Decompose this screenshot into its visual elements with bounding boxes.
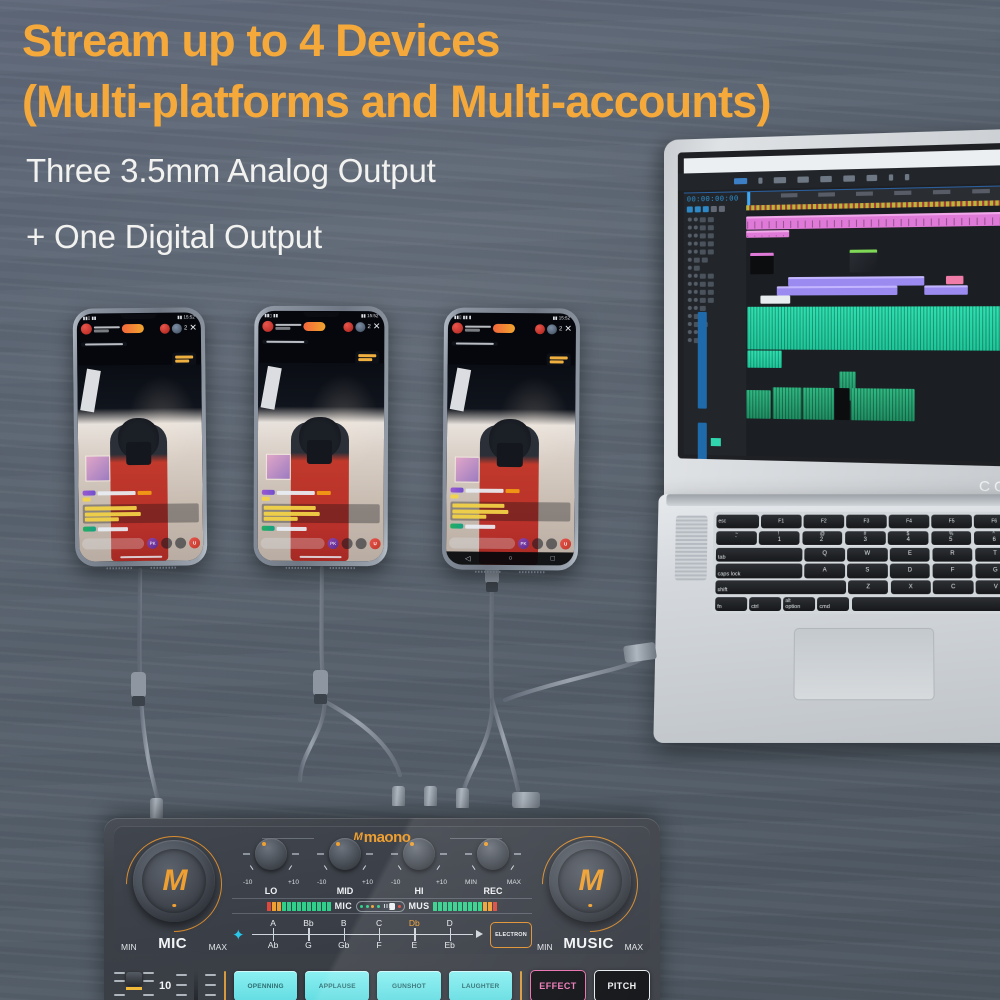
gift-button[interactable]: U bbox=[560, 538, 571, 549]
pitch-label-bottom: Ab bbox=[268, 940, 278, 950]
key-s[interactable]: S bbox=[847, 564, 887, 578]
viewer-count: 2 bbox=[559, 326, 562, 332]
music-meter-label: MUS bbox=[409, 901, 430, 911]
mid-max-label: +10 bbox=[362, 879, 373, 886]
mic-vu-meter bbox=[267, 902, 330, 911]
bluetooth-icon[interactable]: ✦ bbox=[232, 928, 245, 943]
livestream-video[interactable]: PK U bbox=[77, 364, 203, 561]
timeline-clip[interactable] bbox=[760, 295, 790, 303]
maono-mark: M bbox=[579, 866, 602, 896]
lo-min-label: -10 bbox=[243, 879, 252, 886]
headline-line-1: Stream up to 4 Devices bbox=[22, 10, 1000, 71]
wall-frame bbox=[454, 457, 480, 483]
lo-knob-name: LO bbox=[242, 886, 300, 896]
mixer-lower-controls[interactable]: 10 OPENNING APPLAUSE GUNSHOT LAUGHTER EF… bbox=[114, 964, 650, 1000]
jack-connector-4 bbox=[456, 788, 469, 808]
viewer-avatar[interactable] bbox=[160, 323, 170, 333]
rec-max-label: MAX bbox=[507, 879, 521, 886]
key-d[interactable]: D bbox=[890, 564, 930, 578]
key-e[interactable]: E bbox=[890, 547, 930, 561]
gift-button[interactable]: U bbox=[370, 538, 381, 549]
rec-min-label: MIN bbox=[465, 879, 477, 886]
track-selection-bar[interactable] bbox=[698, 312, 707, 409]
track-row bbox=[684, 296, 746, 304]
keyboard-row-function: esc F1 F2 F3 F4 F5 F6 F7 bbox=[716, 515, 1000, 529]
mid-min-label: -10 bbox=[317, 879, 326, 886]
host-avatar[interactable] bbox=[452, 322, 463, 333]
gift-button[interactable]: U bbox=[189, 537, 200, 548]
maono-mark: M bbox=[354, 832, 363, 843]
follow-button[interactable] bbox=[493, 324, 515, 333]
chat-overlay[interactable] bbox=[450, 487, 570, 531]
pitch-label-top: C bbox=[376, 918, 382, 928]
lo-knob[interactable] bbox=[255, 838, 287, 870]
pitch-label-top: A bbox=[270, 918, 276, 928]
music-max-label: MAX bbox=[625, 942, 643, 952]
hi-max-label: +10 bbox=[436, 879, 447, 886]
fader-left[interactable] bbox=[114, 968, 154, 1000]
more-button[interactable] bbox=[546, 538, 557, 549]
lo-max-label: +10 bbox=[288, 879, 299, 886]
battery-icon bbox=[382, 903, 395, 910]
panel-divider bbox=[520, 971, 522, 1000]
key-caps-lock[interactable]: caps lock bbox=[716, 564, 803, 578]
fader-right[interactable] bbox=[176, 968, 216, 1000]
carrier-label: ▮▮▯ ▮▮ bbox=[264, 312, 278, 318]
rec-knob-name: REC bbox=[464, 886, 522, 896]
share-button[interactable] bbox=[532, 538, 543, 549]
knob-position-indicator bbox=[588, 904, 592, 908]
viewer-avatar[interactable] bbox=[547, 324, 557, 334]
chat-message bbox=[450, 501, 570, 521]
hi-min-label: -10 bbox=[391, 879, 400, 886]
clock-label: ▮▮ 15:52 bbox=[177, 314, 195, 320]
knob-position-indicator bbox=[172, 904, 176, 908]
mic-min-label: MIN bbox=[121, 942, 137, 952]
key-w[interactable]: W bbox=[847, 547, 887, 561]
keyboard-row-home: caps lock A S D F G H bbox=[716, 564, 1000, 578]
mic-max-label: MAX bbox=[209, 942, 227, 952]
pk-button[interactable]: PK bbox=[328, 538, 339, 549]
chat-overlay[interactable] bbox=[83, 489, 199, 533]
key-q[interactable]: Q bbox=[805, 547, 845, 561]
close-icon[interactable]: ✕ bbox=[189, 323, 197, 332]
announcement-pill[interactable] bbox=[81, 342, 127, 347]
clock-label: ▮▮ 15:52 bbox=[361, 313, 378, 319]
more-button[interactable] bbox=[356, 538, 367, 549]
music-volume-knob[interactable]: M bbox=[549, 840, 631, 922]
pitch-label-bottom: Eb bbox=[444, 940, 454, 950]
chat-message bbox=[450, 523, 570, 529]
timeline-clip[interactable] bbox=[777, 286, 898, 296]
viewer-avatar[interactable] bbox=[355, 322, 365, 332]
host-avatar[interactable] bbox=[81, 323, 92, 334]
rec-knob-group[interactable]: MINMAX REC bbox=[464, 836, 522, 894]
pk-button[interactable]: PK bbox=[518, 538, 529, 549]
key-space[interactable] bbox=[852, 597, 1000, 611]
pad-gunshot[interactable]: GUNSHOT bbox=[377, 971, 441, 1000]
pitch-label-top-active: Db bbox=[409, 918, 420, 928]
recents-icon[interactable]: □ bbox=[551, 555, 555, 562]
announcement-pill[interactable] bbox=[452, 341, 498, 346]
key-g[interactable]: G bbox=[975, 564, 1000, 578]
mixer-top-panel[interactable]: M maono M MIN MIC MAX M bbox=[114, 826, 650, 954]
chat-message bbox=[262, 526, 380, 531]
record-dot bbox=[398, 905, 401, 908]
keyboard-row-qwerty: tab Q W E R T Y bbox=[716, 547, 1000, 561]
mic-volume-knob-group[interactable]: M MIN MIC MAX bbox=[120, 834, 228, 952]
share-button[interactable] bbox=[161, 538, 172, 549]
host-info bbox=[465, 325, 491, 331]
camera-prop bbox=[126, 442, 151, 466]
key-f6[interactable]: F6 bbox=[974, 515, 1000, 529]
key-f4[interactable]: F4 bbox=[889, 515, 929, 529]
close-icon[interactable]: ✕ bbox=[373, 322, 381, 331]
phone-notch bbox=[303, 312, 339, 317]
pitch-label-top: B bbox=[341, 918, 347, 928]
announcement-pill[interactable] bbox=[262, 339, 308, 344]
key-6[interactable]: ^6 bbox=[974, 531, 1000, 545]
key-shift[interactable]: shift bbox=[715, 580, 845, 594]
track-selection-bar[interactable] bbox=[698, 423, 707, 469]
panel-divider bbox=[224, 971, 226, 1000]
pad-laughter[interactable]: LAUGHTER bbox=[449, 971, 513, 1000]
viewer-count: 2 bbox=[367, 324, 370, 330]
pad-applause[interactable]: APPLAUSE bbox=[305, 971, 369, 1000]
follow-button[interactable] bbox=[303, 322, 325, 331]
key-fn[interactable]: fn bbox=[715, 597, 747, 611]
key-cmd[interactable]: cmd bbox=[817, 597, 849, 611]
host-avatar[interactable] bbox=[262, 321, 273, 332]
pitch-scale[interactable]: A Bb B C Db D Ab G Gb F E Eb bbox=[250, 919, 485, 951]
key-3[interactable]: #3 bbox=[845, 531, 886, 545]
camera-prop bbox=[497, 443, 523, 467]
video-highlight bbox=[261, 366, 282, 410]
comment-input[interactable] bbox=[261, 538, 325, 549]
phone-notch bbox=[121, 314, 157, 319]
pk-button[interactable]: PK bbox=[147, 538, 158, 549]
key-2[interactable]: @2 bbox=[802, 531, 843, 545]
laptop-trackpad[interactable] bbox=[793, 628, 934, 700]
key-t[interactable]: T bbox=[975, 547, 1000, 561]
share-button[interactable] bbox=[342, 538, 353, 549]
phone-2-screen[interactable]: ▮▮▯ ▮▮ ▮▮ 15:52 2 ✕ bbox=[258, 311, 385, 561]
pitch-button[interactable]: PITCH bbox=[594, 970, 650, 1000]
usb-connector bbox=[512, 792, 540, 808]
chat-message bbox=[262, 504, 380, 523]
close-icon[interactable]: ✕ bbox=[564, 324, 572, 333]
phone-1[interactable]: ▮▮▯ ▮▮ ▮▮ 15:52 2 ✕ bbox=[73, 307, 208, 566]
home-indicator[interactable] bbox=[120, 555, 162, 558]
track-row bbox=[684, 312, 746, 320]
keyboard-row-number: ~` !1 @2 #3 $4 %5 ^6 &7 bbox=[716, 531, 1000, 545]
effect-button[interactable]: EFFECT bbox=[530, 970, 586, 1000]
phone-1-screen[interactable]: ▮▮▯ ▮▮ ▮▮ 15:52 2 ✕ bbox=[77, 312, 204, 561]
clock-label: ▮▮ 15:52 bbox=[553, 315, 571, 321]
keyboard-row-modifier: fn ctrl altoption cmd bbox=[715, 597, 1000, 611]
video-highlight bbox=[80, 369, 101, 413]
livestream-toolbar[interactable]: PK U bbox=[261, 538, 381, 549]
livestream-video[interactable]: PK U bbox=[258, 363, 385, 561]
status-dot bbox=[377, 905, 380, 908]
key-v[interactable]: V bbox=[976, 580, 1000, 594]
chat-message bbox=[262, 490, 380, 495]
timeline-gap bbox=[835, 388, 850, 420]
key-a[interactable]: A bbox=[805, 564, 845, 578]
timeline-clip[interactable] bbox=[924, 285, 968, 295]
key-4[interactable]: $4 bbox=[888, 531, 929, 545]
livestream-video[interactable]: PK U ◁ ○ □ bbox=[446, 364, 576, 565]
wall-frame bbox=[265, 454, 290, 480]
speaker-grille-left bbox=[675, 516, 708, 581]
timeline-clip[interactable] bbox=[908, 276, 917, 285]
carrier-label: ▮▮▯ ▮▮ bbox=[83, 315, 97, 321]
mic-knob-labels: MIN MIC MAX bbox=[120, 935, 228, 952]
video-highlight bbox=[450, 368, 471, 412]
jack-connector-3 bbox=[424, 786, 437, 806]
home-indicator[interactable] bbox=[300, 555, 342, 558]
key-option[interactable]: altoption bbox=[783, 597, 815, 611]
follow-button[interactable] bbox=[122, 324, 144, 333]
headline-block: Stream up to 4 Devices (Multi-platforms … bbox=[22, 10, 1000, 256]
track-row bbox=[684, 320, 746, 328]
vu-meter-row: MIC MUS bbox=[232, 898, 532, 914]
livestream-header[interactable]: 2 ✕ bbox=[448, 321, 576, 335]
phone-3[interactable]: ▮▮▯ ▮▮ ▮ ▮▮ 15:52 2 ✕ bbox=[442, 307, 580, 570]
electron-button[interactable]: ELECTRON bbox=[490, 922, 532, 948]
track-row bbox=[684, 336, 746, 344]
timeline-clip[interactable] bbox=[747, 350, 782, 368]
maono-mark: M bbox=[163, 866, 186, 896]
pitch-label-bottom: E bbox=[412, 940, 418, 950]
key-c[interactable]: C bbox=[933, 580, 973, 594]
host-info bbox=[275, 323, 301, 329]
jack-connector-2 bbox=[392, 786, 405, 806]
key-z[interactable]: Z bbox=[848, 580, 888, 594]
comment-input[interactable] bbox=[82, 538, 144, 550]
music-vu-meter bbox=[433, 902, 496, 911]
timeline-clip[interactable] bbox=[803, 388, 834, 420]
headline-subtitle-2: + One Digital Output bbox=[26, 218, 1000, 256]
key-f3[interactable]: F3 bbox=[846, 515, 886, 529]
key-f5[interactable]: F5 bbox=[932, 515, 972, 529]
timeline-clip[interactable] bbox=[773, 387, 802, 419]
music-knob-name: MUSIC bbox=[563, 935, 613, 952]
key-esc[interactable]: esc bbox=[716, 515, 758, 529]
status-dot bbox=[371, 905, 374, 908]
timeline-clip[interactable] bbox=[788, 276, 924, 286]
key-f2[interactable]: F2 bbox=[804, 515, 844, 529]
pitch-label-bottom: Gb bbox=[338, 940, 349, 950]
pitch-scale-row[interactable]: ✦ A Bb B C Db D Ab G Gb F E Eb bbox=[232, 918, 532, 952]
pitch-label-bottom: G bbox=[305, 940, 312, 950]
comment-input[interactable] bbox=[449, 537, 515, 549]
key-f[interactable]: F bbox=[933, 564, 973, 578]
laptop-base: esc F1 F2 F3 F4 F5 F6 F7 ~` !1 @2 #3 $4 … bbox=[653, 494, 1000, 743]
mic-meter-label: MIC bbox=[335, 901, 352, 911]
pad-openning[interactable]: OPENNING bbox=[234, 971, 298, 1000]
lo-knob-group[interactable]: -10+10 LO bbox=[242, 836, 300, 894]
livestream-header[interactable]: 2 ✕ bbox=[77, 321, 201, 335]
track-row bbox=[684, 304, 746, 312]
timeline-clip[interactable] bbox=[747, 306, 1000, 351]
timeline-clip[interactable] bbox=[946, 276, 963, 285]
pitch-label-top: Bb bbox=[303, 918, 313, 928]
headline-line-2: (Multi-platforms and Multi-accounts) bbox=[22, 71, 1000, 132]
phone-2[interactable]: ▮▮▯ ▮▮ ▮▮ 15:52 2 ✕ bbox=[254, 306, 389, 566]
laptop-keyboard[interactable]: esc F1 F2 F3 F4 F5 F6 F7 ~` !1 @2 #3 $4 … bbox=[712, 512, 1000, 614]
track-row bbox=[684, 288, 746, 296]
viewer-avatar[interactable] bbox=[172, 323, 182, 333]
status-dot bbox=[360, 905, 363, 908]
pitch-label-bottom: F bbox=[376, 940, 381, 950]
pitch-label-top: D bbox=[447, 918, 453, 928]
maono-wordmark: maono bbox=[364, 829, 411, 846]
back-icon[interactable]: ◁ bbox=[465, 554, 470, 562]
jack-connector-1 bbox=[150, 798, 163, 818]
mid-knob-name: MID bbox=[316, 886, 374, 896]
android-nav-bar[interactable]: ◁ ○ □ bbox=[446, 551, 574, 565]
host-info bbox=[94, 326, 120, 332]
headline-subtitle-1: Three 3.5mm Analog Output bbox=[26, 152, 1000, 190]
hi-knob-name: HI bbox=[390, 886, 448, 896]
livestream-toolbar[interactable]: PK U bbox=[82, 537, 200, 549]
status-dot bbox=[366, 905, 369, 908]
camera-prop bbox=[307, 440, 333, 464]
music-min-label: MIN bbox=[537, 942, 553, 952]
phone-3-screen[interactable]: ▮▮▯ ▮▮ ▮ ▮▮ 15:52 2 ✕ bbox=[446, 312, 576, 565]
timeline-clip[interactable] bbox=[746, 390, 770, 419]
music-knob-labels: MIN MUSIC MAX bbox=[536, 935, 644, 952]
key-backtick[interactable]: ~` bbox=[716, 531, 757, 545]
phone-bottom-edge bbox=[254, 566, 388, 570]
viewer-avatar[interactable] bbox=[535, 324, 545, 334]
viewer-avatar[interactable] bbox=[343, 322, 353, 332]
viewer-count: 2 bbox=[184, 325, 187, 331]
brand-logo: M maono bbox=[354, 829, 411, 846]
key-1[interactable]: !1 bbox=[759, 531, 800, 545]
chat-overlay[interactable] bbox=[262, 490, 380, 533]
more-button[interactable] bbox=[175, 538, 186, 549]
status-indicator-pill bbox=[356, 901, 405, 912]
livestream-header[interactable]: 2 ✕ bbox=[258, 320, 384, 333]
chat-message bbox=[451, 487, 571, 493]
fader-value: 10 bbox=[159, 980, 171, 992]
rec-knob[interactable] bbox=[477, 838, 509, 870]
mic-knob-name: MIC bbox=[158, 935, 187, 952]
track-row bbox=[684, 328, 746, 336]
key-tab[interactable]: tab bbox=[716, 547, 802, 561]
key-5[interactable]: %5 bbox=[931, 531, 972, 545]
key-r[interactable]: R bbox=[932, 547, 972, 561]
chat-message bbox=[83, 525, 199, 531]
home-icon[interactable]: ○ bbox=[508, 555, 512, 562]
music-volume-knob-group[interactable]: M MIN MUSIC MAX bbox=[536, 834, 644, 952]
key-x[interactable]: X bbox=[891, 580, 931, 594]
audio-mixer-device[interactable]: M maono M MIN MIC MAX M bbox=[104, 818, 660, 1000]
timeline-clip[interactable] bbox=[851, 388, 915, 421]
carrier-label: ▮▮▯ ▮▮ ▮ bbox=[454, 314, 471, 320]
key-ctrl[interactable]: ctrl bbox=[749, 597, 781, 611]
mic-volume-knob[interactable]: M bbox=[133, 840, 215, 922]
wall-frame bbox=[86, 455, 111, 481]
keyboard-row-shift: shift Z X C V B bbox=[715, 580, 1000, 594]
livestream-toolbar[interactable]: PK U bbox=[449, 537, 571, 549]
chat-message bbox=[83, 489, 199, 495]
laptop-hinge bbox=[666, 494, 1000, 506]
key-f1[interactable]: F1 bbox=[761, 515, 801, 529]
track-enable-toggle[interactable] bbox=[711, 438, 721, 446]
chat-message bbox=[83, 503, 199, 523]
fader-group[interactable]: 10 bbox=[114, 968, 216, 1000]
